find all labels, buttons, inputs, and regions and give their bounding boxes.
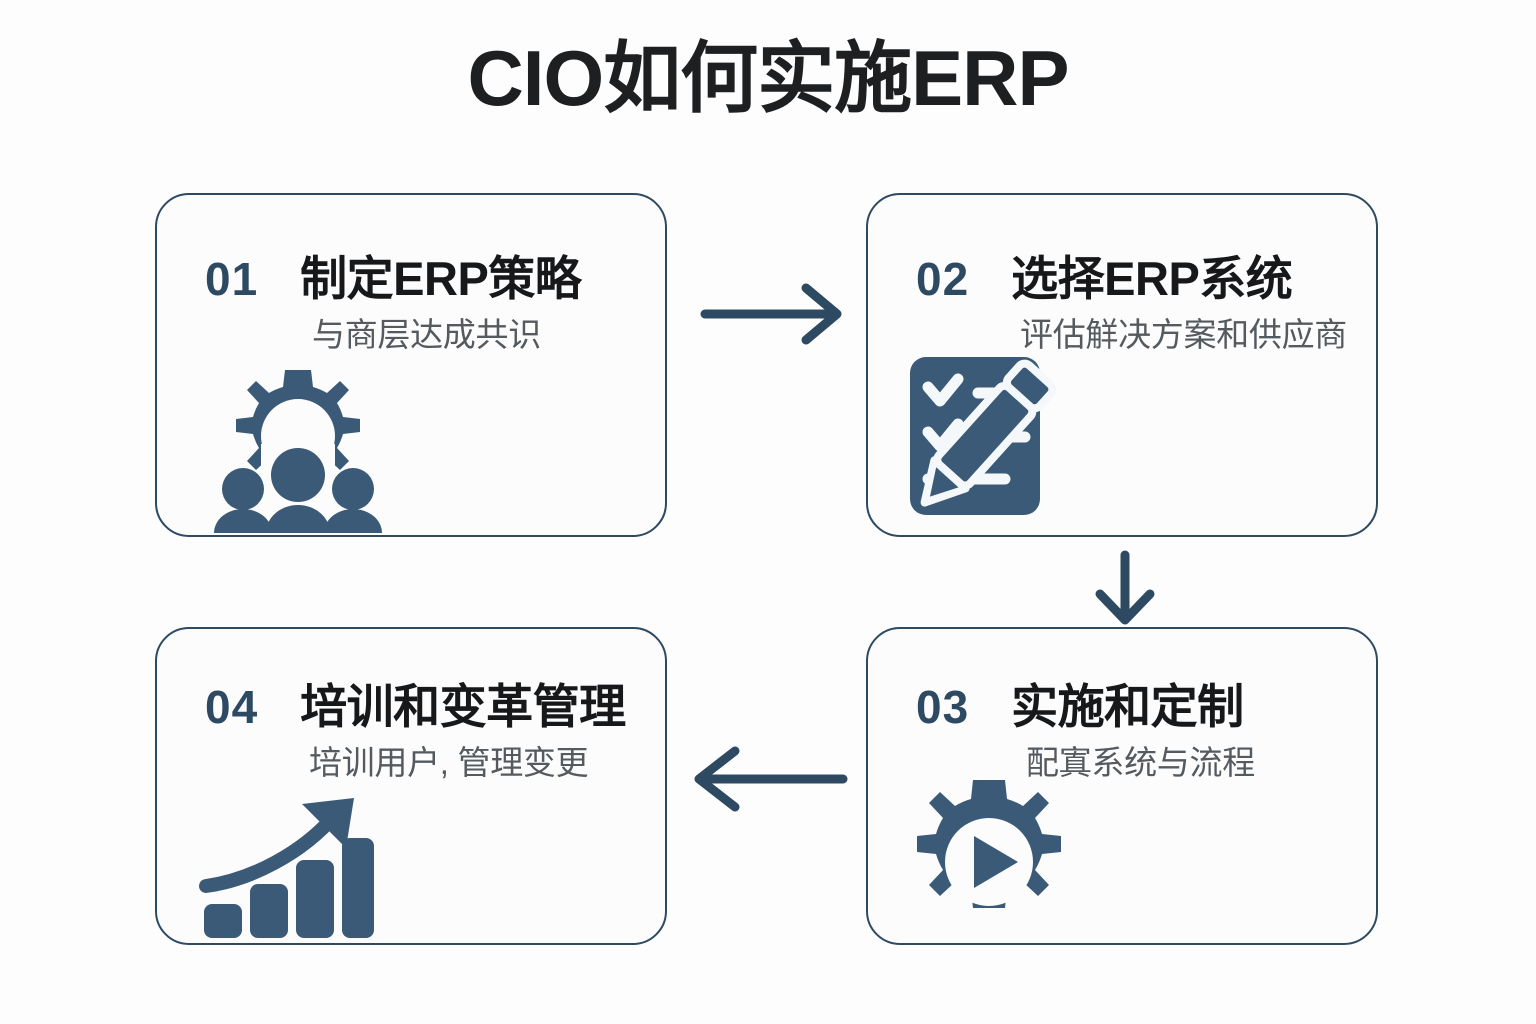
card-03-subtitle: 配寘系统与流程 [1026, 736, 1255, 784]
card-01-title: 制定ERP策略 [300, 240, 581, 309]
card-02-number: 02 [916, 252, 969, 306]
card-02-subtitle: 评估觧决方案和供应商 [1020, 308, 1347, 356]
arrow-left-icon [692, 745, 848, 813]
page-title: CIO如何实施ERP [0, 38, 1536, 120]
card-04-header: 04 培训和变革管理 [205, 668, 626, 737]
gear-play-icon [898, 778, 1080, 946]
arrow-down-icon [1092, 550, 1158, 626]
card-03-number: 03 [916, 680, 969, 734]
gear-people-icon [198, 358, 398, 533]
arrow-right-icon [700, 283, 850, 345]
card-04-title: 培训和变革管理 [300, 668, 626, 737]
card-04-subtitle: 培训用户, 管理变更 [309, 736, 588, 784]
card-01-subtitle: 与商层达成共识 [312, 308, 541, 356]
card-01-number: 01 [205, 252, 258, 306]
card-03-title: 实施和定制 [1011, 668, 1244, 737]
card-02-title: 选择ERP系统 [1011, 240, 1292, 309]
card-01-header: 01 制定ERP策略 [205, 240, 581, 309]
card-04-number: 04 [205, 680, 258, 734]
growth-chart-arrow-icon [198, 792, 374, 938]
checklist-pencil-icon [908, 355, 1128, 517]
card-02-header: 02 选择ERP系统 [916, 240, 1292, 309]
infographic-canvas: CIO如何实施ERP 01 制定ERP策略 与商层达成共识 [0, 0, 1536, 1024]
card-03-header: 03 实施和定制 [916, 668, 1244, 737]
